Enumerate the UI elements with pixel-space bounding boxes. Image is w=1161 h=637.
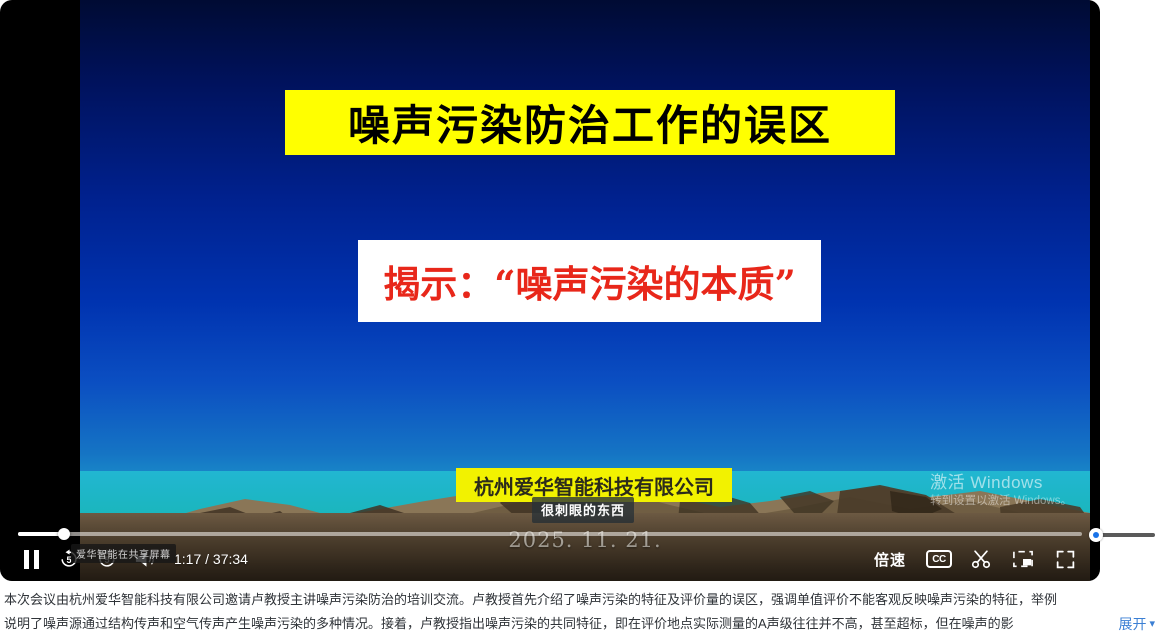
description-line-1: 本次会议由杭州爱华智能科技有限公司邀请卢教授主讲噪声污染防治的培训交流。卢教授首…	[4, 588, 1157, 612]
video-description: 本次会议由杭州爱华智能科技有限公司邀请卢教授主讲噪声污染防治的培训交流。卢教授首…	[0, 588, 1161, 637]
fullscreen-button[interactable]	[1046, 540, 1084, 578]
expand-description-button[interactable]: 展开 ▾	[1104, 612, 1155, 636]
progress-played	[18, 532, 63, 536]
slide-subtitle: 揭示：“噪声污染的本质”	[383, 254, 796, 308]
clip-button[interactable]	[962, 540, 1000, 578]
picture-in-picture-button[interactable]	[1004, 540, 1042, 578]
pause-icon	[23, 550, 40, 569]
video-player[interactable]: 噪声污染防治工作的误区 揭示：“噪声污染的本质” 杭州爱华智能科技有限公司 20…	[0, 0, 1100, 581]
playback-speed-button[interactable]: 倍速	[864, 549, 916, 570]
expand-label: 展开	[1118, 612, 1146, 636]
slide-title-box: 噪声污染防治工作的误区	[285, 90, 895, 155]
picture-in-picture-icon	[1012, 549, 1034, 569]
time-display: 1:17 / 37:34	[174, 551, 248, 567]
slide-company: 杭州爱华智能科技有限公司	[474, 471, 714, 500]
side-slider-track[interactable]	[1095, 533, 1155, 537]
progress-track[interactable]	[18, 532, 1082, 536]
closed-captions-button[interactable]: CC	[920, 540, 958, 578]
cc-icon: CC	[926, 550, 952, 568]
screen-share-tooltip: 爱华智能在共享屏幕	[71, 544, 176, 563]
description-line-2: 说明了噪声源通过结构传声和空气传声产生噪声污染的多种情况。接着，卢教授指出噪声污…	[4, 612, 1157, 636]
controls-right: 倍速 CC	[864, 540, 1100, 578]
page-root: 噪声污染防治工作的误区 揭示：“噪声污染的本质” 杭州爱华智能科技有限公司 20…	[0, 0, 1161, 637]
fullscreen-icon	[1055, 549, 1076, 570]
subtitle-caption: 很刺眼的东西	[532, 497, 634, 523]
slide-subtitle-box: 揭示：“噪声污染的本质”	[358, 240, 821, 322]
pause-button[interactable]	[12, 540, 50, 578]
scissors-icon	[970, 548, 992, 570]
video-surface[interactable]: 噪声污染防治工作的误区 揭示：“噪声污染的本质” 杭州爱华智能科技有限公司 20…	[80, 0, 1090, 581]
side-slider[interactable]	[1087, 528, 1161, 542]
slide-title: 噪声污染防治工作的误区	[348, 92, 832, 153]
side-slider-handle[interactable]	[1089, 528, 1103, 542]
chevron-down-icon: ▾	[1149, 612, 1155, 636]
